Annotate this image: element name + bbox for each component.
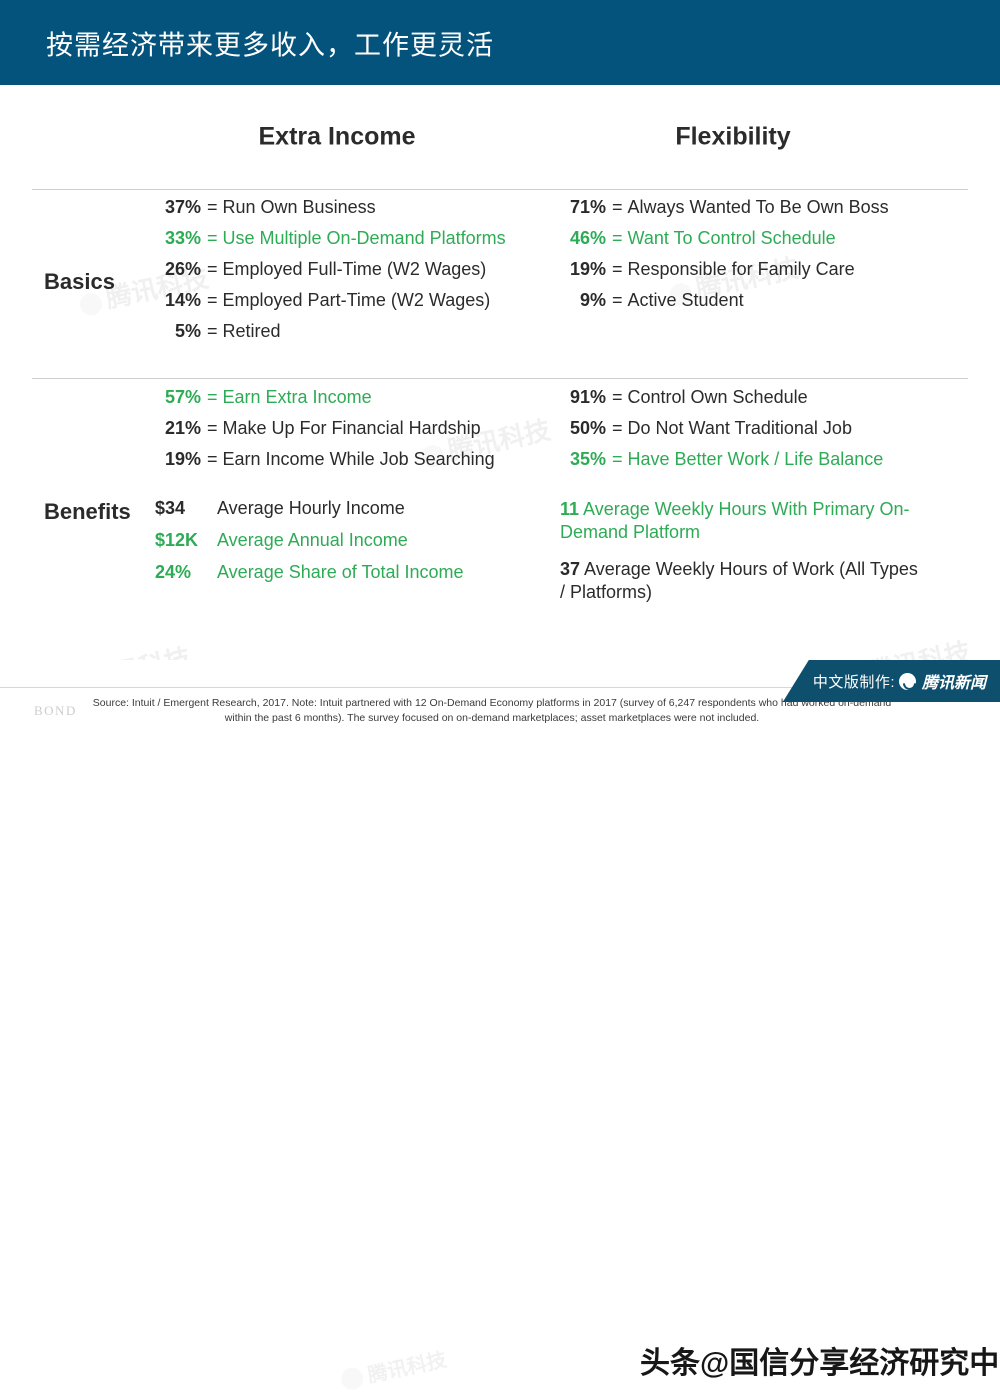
row-equals: = [201,228,223,249]
stat-value: $12K [155,530,217,551]
row-value: 26% [155,259,201,280]
tencent-tech-watermark: 腾讯科技 [338,1343,449,1394]
list-item: 33% = Use Multiple On-Demand Platforms [155,228,555,249]
list-item: 46% = Want To Control Schedule [560,228,980,249]
benefits-extra-income-list: 57% = Earn Extra Income 21% = Make Up Fo… [155,387,555,594]
section-label-benefits: Benefits [44,499,131,525]
row-label: Responsible for Family Care [628,259,855,280]
row-equals: = [606,197,628,218]
row-label: Earn Extra Income [223,387,372,408]
benefits-flexibility-list: 91% = Control Own Schedule 50% = Do Not … [560,387,980,618]
list-item: 9% = Active Student [560,290,980,311]
row-value: 14% [155,290,201,311]
divider-middle [32,378,968,379]
row-label: Earn Income While Job Searching [223,449,495,470]
list-item: 21% = Make Up For Financial Hardship [155,418,555,439]
row-label: Employed Full-Time (W2 Wages) [223,259,487,280]
list-item: 19% = Earn Income While Job Searching [155,449,555,470]
row-equals: = [201,321,223,342]
row-value: 21% [155,418,201,439]
stat-item: 37 Average Weekly Hours of Work (All Typ… [560,558,920,604]
row-label: Do Not Want Traditional Job [628,418,852,439]
row-equals: = [606,228,628,249]
stat-label: Average Annual Income [217,530,408,551]
tencent-news-logo-icon [899,673,916,690]
row-value: 57% [155,387,201,408]
column-heading-flexibility: Flexibility [675,123,790,152]
row-value: 71% [560,197,606,218]
row-value: 35% [560,449,606,470]
row-equals: = [606,259,628,280]
row-equals: = [606,449,628,470]
basics-extra-income-list: 37% = Run Own Business 33% = Use Multipl… [155,197,555,352]
row-equals: = [606,418,628,439]
list-item: 5% = Retired [155,321,555,342]
stat-value: 11 [560,499,579,519]
stat-item: 11 Average Weekly Hours With Primary On-… [560,498,920,544]
row-label: Employed Part-Time (W2 Wages) [223,290,491,311]
row-value: 5% [155,321,201,342]
row-label: Want To Control Schedule [628,228,836,249]
row-value: 46% [560,228,606,249]
stat-value: 24% [155,562,217,583]
row-label: Active Student [628,290,744,311]
row-value: 19% [560,259,606,280]
row-equals: = [606,290,628,311]
stat-value: 37 [560,559,580,579]
tencent-news-ribbon: 中文版制作: 腾讯新闻 [783,660,1000,702]
slide-body: Extra Income Flexibility Basics 37% = Ru… [0,85,1000,660]
list-item: 57% = Earn Extra Income [155,387,555,408]
list-item: 71% = Always Wanted To Be Own Boss [560,197,980,218]
list-item: 26% = Employed Full-Time (W2 Wages) [155,259,555,280]
stat-label: Average Hourly Income [217,498,405,519]
column-heading-extra-income: Extra Income [258,123,415,152]
row-equals: = [201,449,223,470]
section-label-basics: Basics [44,269,115,295]
slide-footer: BOND Source: Intuit / Emergent Research,… [0,660,1000,747]
section-basics: Basics 37% = Run Own Business 33% = Use … [0,197,1000,373]
row-value: 33% [155,228,201,249]
list-item: 14% = Employed Part-Time (W2 Wages) [155,290,555,311]
row-equals: = [201,387,223,408]
row-value: 91% [560,387,606,408]
row-label: Always Wanted To Be Own Boss [628,197,889,218]
ribbon-label: 中文版制作: [813,671,895,692]
bond-logo: BOND [34,703,77,719]
row-equals: = [606,387,628,408]
row-value: 9% [560,290,606,311]
toutiao-watermark: 头条@国信分享经济研究中心 [640,1338,1000,1382]
row-label: Retired [223,321,281,342]
stat-label: Average Share of Total Income [217,562,464,583]
row-label: Have Better Work / Life Balance [628,449,884,470]
basics-flexibility-list: 71% = Always Wanted To Be Own Boss 46% =… [560,197,980,321]
row-label: Use Multiple On-Demand Platforms [223,228,506,249]
list-spacer [560,480,980,498]
section-benefits: Benefits 57% = Earn Extra Income 21% = M… [0,387,1000,657]
row-equals: = [201,290,223,311]
column-headings: Extra Income Flexibility [0,85,1000,147]
row-equals: = [201,197,223,218]
stat-value: $34 [155,498,217,519]
stat-label: Average Weekly Hours of Work (All Types … [560,559,918,602]
row-equals: = [201,418,223,439]
list-item: 19% = Responsible for Family Care [560,259,980,280]
row-label: Run Own Business [223,197,376,218]
row-value: 19% [155,449,201,470]
source-note: Source: Intuit / Emergent Research, 2017… [92,696,892,726]
list-item: 35% = Have Better Work / Life Balance [560,449,980,470]
list-item: 37% = Run Own Business [155,197,555,218]
divider-top [32,189,968,190]
row-label: Control Own Schedule [628,387,808,408]
stat-label: Average Weekly Hours With Primary On-Dem… [560,499,909,542]
row-value: 50% [560,418,606,439]
page-title: 按需经济带来更多收入，工作更灵活 [46,23,494,62]
row-label: Make Up For Financial Hardship [223,418,481,439]
list-spacer [155,480,555,498]
stat-item: $12K Average Annual Income [155,530,555,551]
stat-item: 24% Average Share of Total Income [155,562,555,583]
list-item: 50% = Do Not Want Traditional Job [560,418,980,439]
row-value: 37% [155,197,201,218]
list-item: 91% = Control Own Schedule [560,387,980,408]
row-equals: = [201,259,223,280]
ribbon-brand: 腾讯新闻 [922,669,986,693]
stat-item: $34 Average Hourly Income [155,498,555,519]
slide-title-bar: 按需经济带来更多收入，工作更灵活 [0,0,1000,85]
tencent-logo-icon [339,1366,365,1392]
